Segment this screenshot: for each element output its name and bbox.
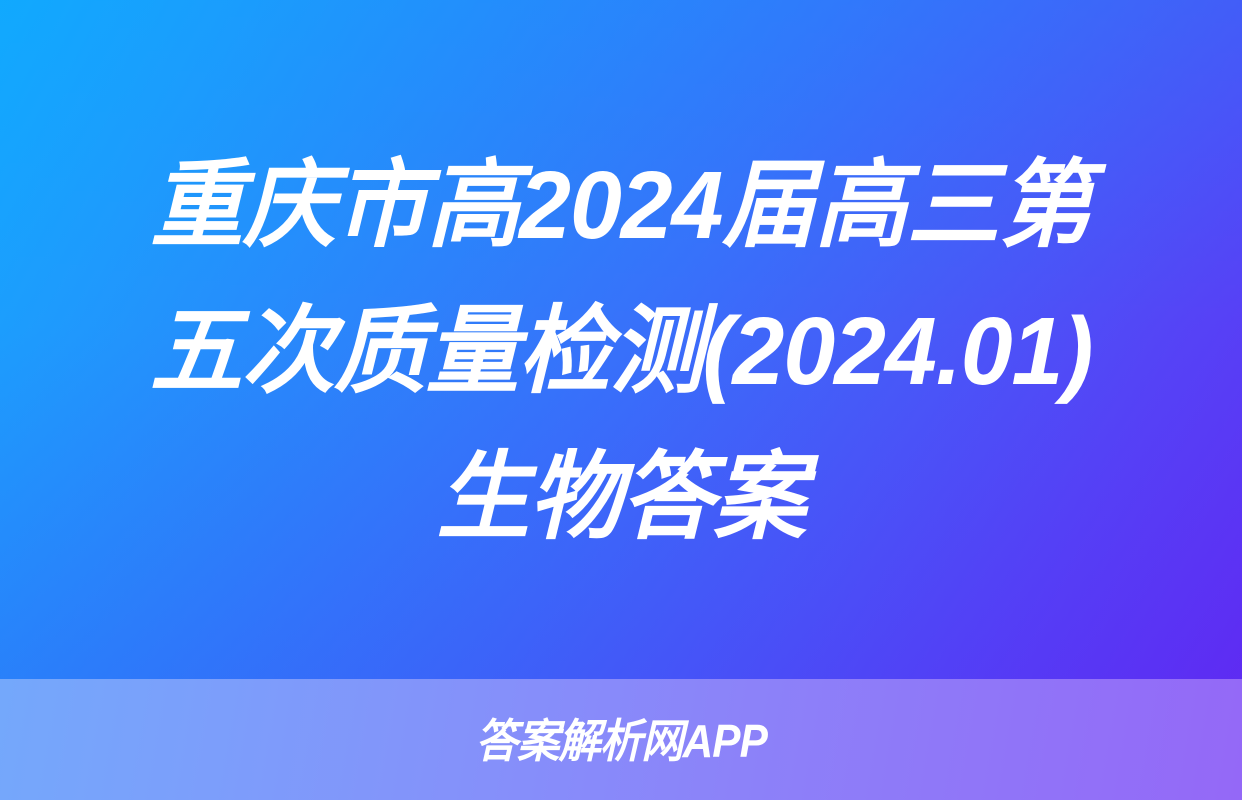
poster-title: 重庆市高2024届高三第 五次质量检测(2024.01) 生物答案: [0, 0, 1242, 679]
title-line-3: 生物答案: [437, 425, 806, 571]
title-line-2: 五次质量检测(2024.01): [150, 279, 1093, 425]
title-line-1: 重庆市高2024届高三第: [151, 133, 1091, 279]
footer-band: 答案解析网APP: [0, 679, 1242, 800]
poster-image: 重庆市高2024届高三第 五次质量检测(2024.01) 生物答案 答案解析网A…: [0, 0, 1242, 800]
watermark-text: 答案解析网APP: [475, 718, 766, 764]
